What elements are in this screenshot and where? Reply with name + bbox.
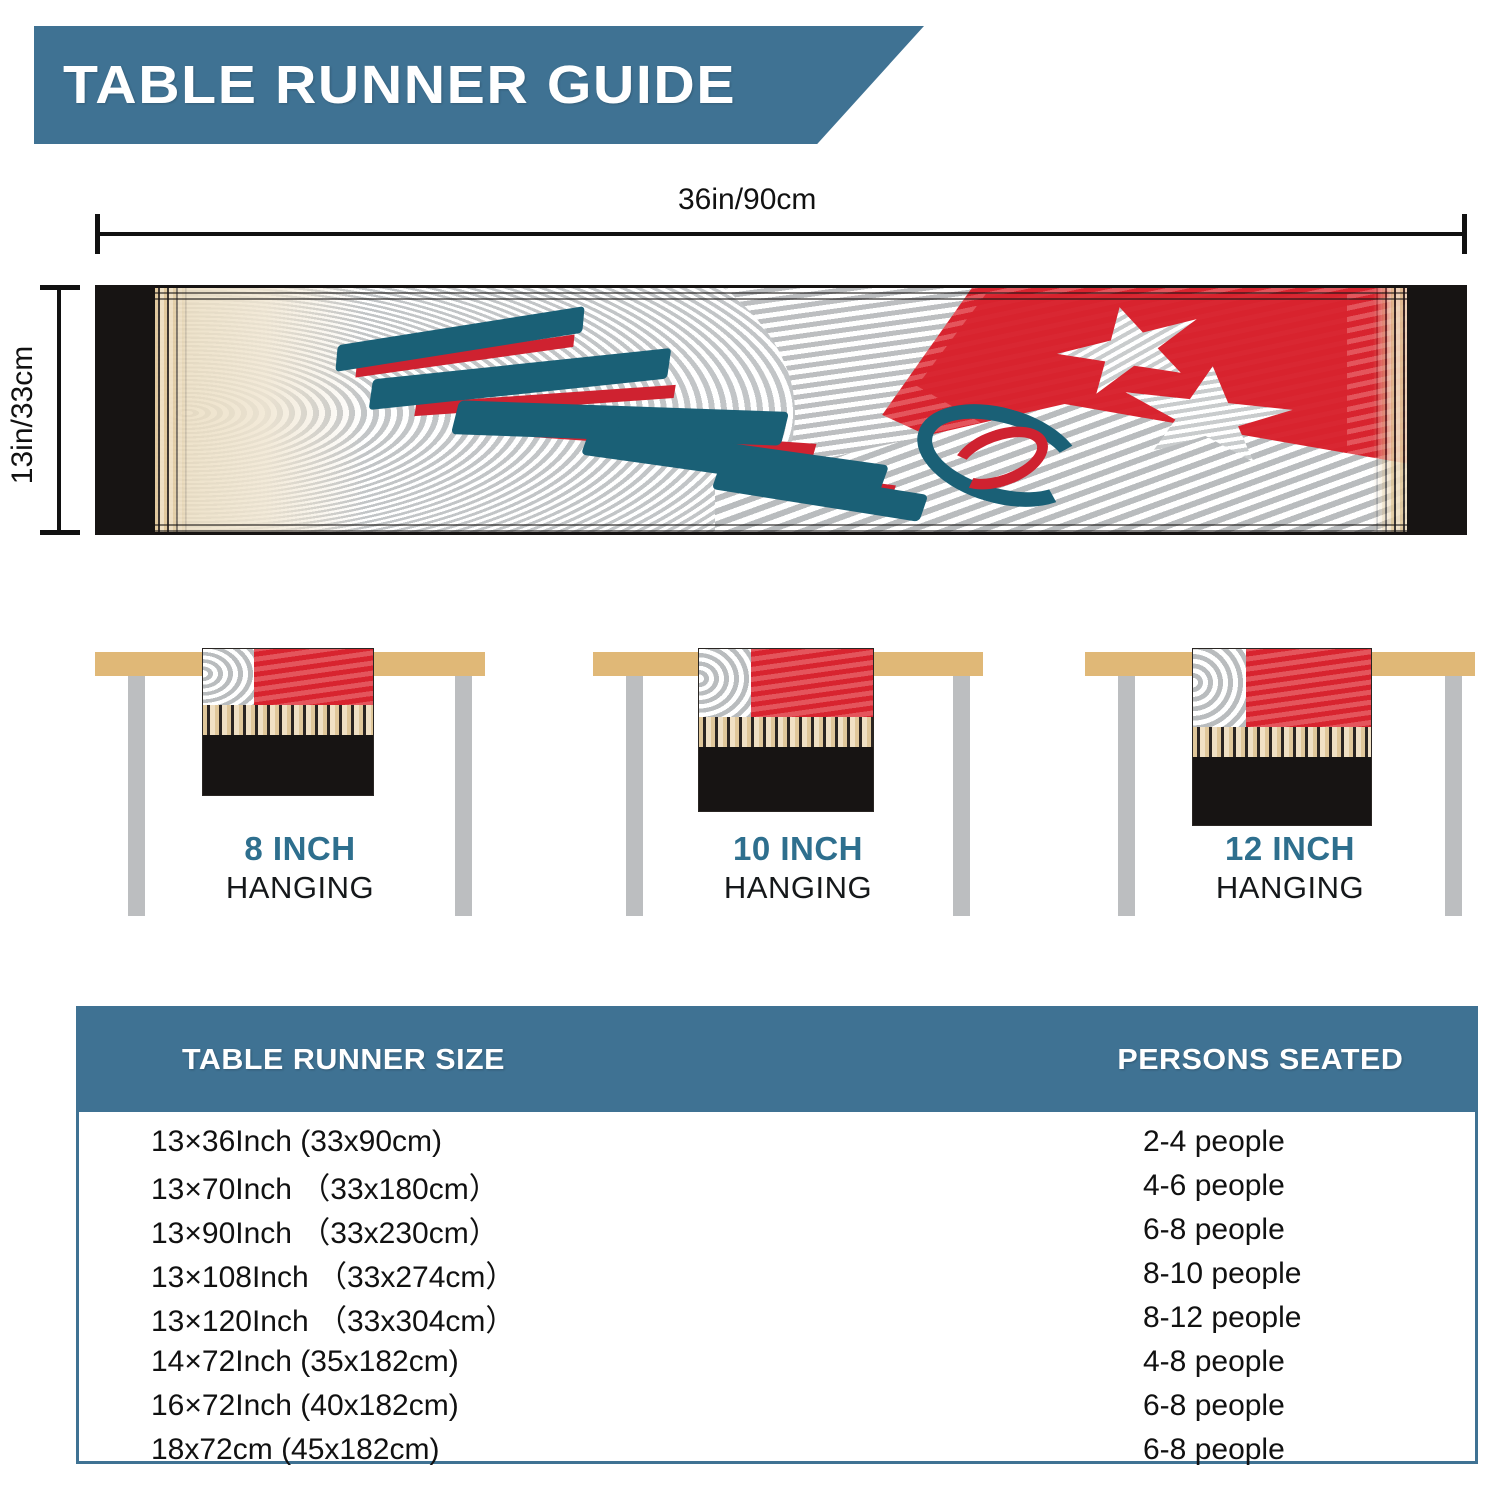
cell-size: 13×70Inch （33x180cm） xyxy=(151,1164,499,1208)
distressed-edge-top xyxy=(155,288,1407,300)
table-row: 13×90Inch （33x230cm） 6-8 people xyxy=(79,1208,1475,1252)
distressed-edge-left xyxy=(155,288,189,532)
cell-size: 18x72cm (45x182cm) xyxy=(151,1433,439,1467)
table-runner-product-image xyxy=(95,285,1467,535)
cloth-distressed-fringe xyxy=(1193,727,1371,757)
hanging-runner-cloth xyxy=(1192,648,1372,826)
hanging-label-10-inch: 10 INCH HANGING xyxy=(588,830,1008,906)
hanging-inch-label: 10 INCH xyxy=(588,830,1008,868)
header-banner: TABLE RUNNER GUIDE xyxy=(34,26,924,144)
height-dimension-line xyxy=(57,286,61,534)
width-dimension-line xyxy=(95,232,1467,236)
column-header-size: TABLE RUNNER SIZE xyxy=(182,1044,505,1077)
height-dimension-label-text: 13in/33cm xyxy=(6,290,40,540)
height-dimension-cap-bottom xyxy=(40,530,80,535)
hanging-sub-label: HANGING xyxy=(90,870,510,906)
hanging-label-12-inch: 12 INCH HANGING xyxy=(1080,830,1493,906)
table-row: 16×72Inch (40x182cm) 6-8 people xyxy=(79,1384,1475,1428)
table-row: 13×70Inch （33x180cm） 4-6 people xyxy=(79,1164,1475,1208)
cell-size: 13×120Inch （33x304cm） xyxy=(151,1296,515,1340)
hanging-inch-label: 12 INCH xyxy=(1080,830,1493,868)
table-header-row: TABLE RUNNER SIZE PERSONS SEATED xyxy=(79,1009,1475,1112)
width-dimension-cap-left xyxy=(95,214,100,254)
cloth-wave-section xyxy=(1193,649,1246,733)
cell-persons: 2-4 people xyxy=(1143,1125,1285,1159)
cell-persons: 4-6 people xyxy=(1143,1169,1285,1203)
cell-size: 13×36Inch (33x90cm) xyxy=(151,1125,442,1159)
table-row: 14×72Inch (35x182cm) 4-8 people xyxy=(79,1340,1475,1384)
hanging-label-8-inch: 8 INCH HANGING xyxy=(90,830,510,906)
cloth-wave-section xyxy=(203,649,254,711)
cell-size: 14×72Inch (35x182cm) xyxy=(151,1345,459,1379)
table-row: 18x72cm (45x182cm) 6-8 people xyxy=(79,1428,1475,1472)
cell-size: 13×108Inch （33x274cm） xyxy=(151,1252,515,1296)
page-title: TABLE RUNNER GUIDE xyxy=(63,54,736,116)
cell-size: 13×90Inch （33x230cm） xyxy=(151,1208,499,1252)
distressed-edge-right xyxy=(1373,288,1407,532)
cell-persons: 4-8 people xyxy=(1143,1345,1285,1379)
hanging-example-12-inch: 12 INCH HANGING xyxy=(1080,630,1493,940)
cell-persons: 8-10 people xyxy=(1143,1257,1301,1291)
hanging-sub-label: HANGING xyxy=(588,870,1008,906)
hanging-example-10-inch: 10 INCH HANGING xyxy=(588,630,1008,940)
hanging-examples-section: 8 INCH HANGING 10 INCH HANGING 12 INCH xyxy=(0,630,1493,940)
hanging-inch-label: 8 INCH xyxy=(90,830,510,868)
table-row: 13×36Inch (33x90cm) 2-4 people xyxy=(79,1120,1475,1164)
cell-persons: 6-8 people xyxy=(1143,1433,1285,1467)
cell-size: 16×72Inch (40x182cm) xyxy=(151,1389,459,1423)
cell-persons: 6-8 people xyxy=(1143,1389,1285,1423)
table-row: 13×120Inch （33x304cm） 8-12 people xyxy=(79,1296,1475,1340)
hanging-example-8-inch: 8 INCH HANGING xyxy=(90,630,510,940)
cloth-distressed-fringe xyxy=(699,717,873,747)
table-row: 13×108Inch （33x274cm） 8-10 people xyxy=(79,1252,1475,1296)
cell-persons: 8-12 people xyxy=(1143,1301,1301,1335)
distressed-edge-bottom xyxy=(155,520,1407,532)
width-dimension-cap-right xyxy=(1462,214,1467,254)
cloth-distressed-fringe xyxy=(203,705,373,735)
hanging-runner-cloth xyxy=(202,648,374,796)
hanging-sub-label: HANGING xyxy=(1080,870,1493,906)
height-dimension-label: 13in/33cm xyxy=(6,40,40,290)
cell-persons: 6-8 people xyxy=(1143,1213,1285,1247)
table-body: 13×36Inch (33x90cm) 2-4 people 13×70Inch… xyxy=(79,1112,1475,1472)
size-chart-table: TABLE RUNNER SIZE PERSONS SEATED 13×36In… xyxy=(76,1006,1478,1464)
runner-fabric-artwork xyxy=(155,288,1407,532)
column-header-persons: PERSONS SEATED xyxy=(1117,1044,1403,1077)
width-dimension-label: 36in/90cm xyxy=(678,183,816,217)
hanging-runner-cloth xyxy=(698,648,874,812)
height-dimension-cap-top xyxy=(40,285,80,290)
cloth-wave-section xyxy=(699,649,751,723)
